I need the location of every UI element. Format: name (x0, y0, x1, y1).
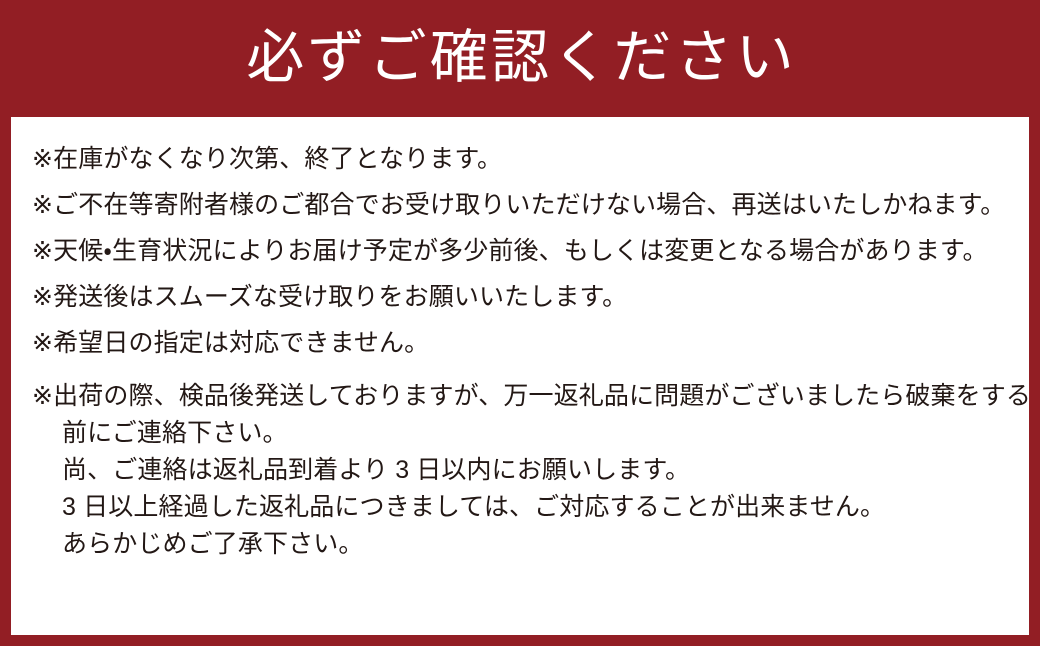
list-item: ※ご不在等寄附者様のご都合でお受け取りいただけない場合、再送はいたしかねます。 (32, 182, 1021, 228)
final-block-line-4: 3 日以上経過した返礼品につきましては、ご対応することが出来ません。 (32, 489, 1021, 526)
final-block-line-5: あらかじめご了承下さい。 (32, 526, 1021, 563)
notice-header-band: 必ずご確認ください (0, 0, 1040, 117)
list-item: ※天候・生育状況によりお届け予定が多少前後、もしくは変更となる場合があります。 (32, 228, 1021, 274)
final-block-line-3: 尚、ご連絡は返礼品到着より 3 日以内にお願いします。 (32, 452, 1021, 489)
final-block-line-2: 前にご連絡下さい。 (32, 415, 1021, 452)
border-edge-right (1029, 117, 1040, 646)
list-item: ※在庫がなくなり次第、終了となります。 (32, 136, 1021, 182)
border-edge-bottom (0, 635, 1040, 646)
notice-body-panel: ※在庫がなくなり次第、終了となります。 ※ご不在等寄附者様のご都合でお受け取りい… (11, 117, 1029, 635)
list-item-final-block: ※出荷の際、検品後発送しておりますが、万一返礼品に問題がございましたら破棄をする… (32, 378, 1021, 563)
notice-card: 必ずご確認ください ※在庫がなくなり次第、終了となります。 ※ご不在等寄附者様の… (0, 0, 1040, 646)
list-item: ※発送後はスムーズな受け取りをお願いいたします。 (32, 274, 1021, 320)
list-item: ※希望日の指定は対応できません。 (32, 320, 1021, 366)
notice-list: ※在庫がなくなり次第、終了となります。 ※ご不在等寄附者様のご都合でお受け取りい… (32, 117, 1021, 563)
border-edge-left (0, 117, 11, 646)
final-block-line-1: ※出荷の際、検品後発送しておりますが、万一返礼品に問題がございましたら破棄をする (32, 378, 1021, 415)
page-title: 必ずご確認ください (243, 29, 797, 87)
